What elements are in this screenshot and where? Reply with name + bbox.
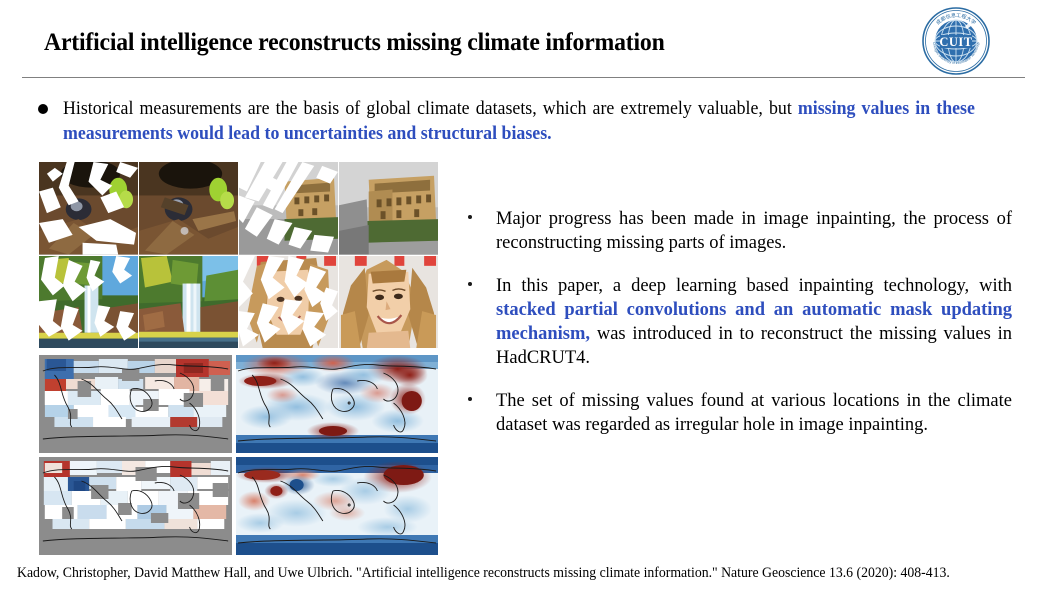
- bullet-dot-icon: [468, 215, 472, 219]
- lead-bullet-text: Historical measurements are the basis of…: [63, 97, 975, 147]
- map-cell-observed-masked-row1: [39, 355, 232, 453]
- photo-cell-hanging-houses-restored: [339, 162, 438, 255]
- map-cell-observed-masked-row2: [39, 457, 232, 555]
- map-cell-reconstructed-row1: [236, 355, 438, 453]
- right-bullet-list: Major progress has been made in image in…: [466, 207, 1012, 456]
- bullet-dot-icon: [38, 104, 48, 114]
- inpainting-examples-figure: [39, 162, 438, 348]
- bullet-dot-icon: [468, 282, 472, 286]
- right-bullet-1-plain-1: Major progress has been made in image in…: [496, 209, 1012, 253]
- photo-cell-waterfall-restored: [139, 256, 238, 349]
- photo-cell-spider-restored: [139, 162, 238, 255]
- title-divider: [22, 77, 1025, 78]
- photo-cell-portrait-restored: [339, 256, 438, 349]
- right-bullet-item-3: The set of missing values found at vario…: [466, 389, 1012, 437]
- right-bullet-text-1: Major progress has been made in image in…: [496, 207, 1012, 255]
- cuit-university-seal-logo: CUIT 成都信息工程大学 Chengdu University of Info…: [921, 6, 991, 76]
- photo-cell-hanging-houses-masked: [239, 162, 338, 255]
- photo-cell-spider-masked: [39, 162, 138, 255]
- photo-cell-portrait-masked: [239, 256, 338, 349]
- right-bullet-text-3: The set of missing values found at vario…: [496, 389, 1012, 437]
- right-bullet-item-2: In this paper, a deep learning based inp…: [466, 274, 1012, 370]
- right-bullet-2-plain-1: In this paper, a deep learning based inp…: [496, 276, 1012, 296]
- page-title: Artificial intelligence reconstructs mis…: [44, 27, 816, 57]
- hadcrut4-maps-figure: [39, 355, 438, 555]
- right-bullet-text-2: In this paper, a deep learning based inp…: [496, 274, 1012, 370]
- svg-text:CUIT: CUIT: [939, 35, 972, 49]
- cuit-acronym: CUIT: [939, 35, 972, 49]
- photo-cell-waterfall-masked: [39, 256, 138, 349]
- bullet-dot-icon: [468, 397, 472, 401]
- lead-bullet-plain: Historical measurements are the basis of…: [63, 99, 798, 119]
- source-citation: Kadow, Christopher, David Matthew Hall, …: [17, 563, 972, 584]
- right-bullet-item-1: Major progress has been made in image in…: [466, 207, 1012, 255]
- lead-bullet-item: Historical measurements are the basis of…: [38, 97, 1008, 147]
- right-bullet-3-plain-1: The set of missing values found at vario…: [496, 391, 1012, 435]
- map-cell-reconstructed-row2: [236, 457, 438, 555]
